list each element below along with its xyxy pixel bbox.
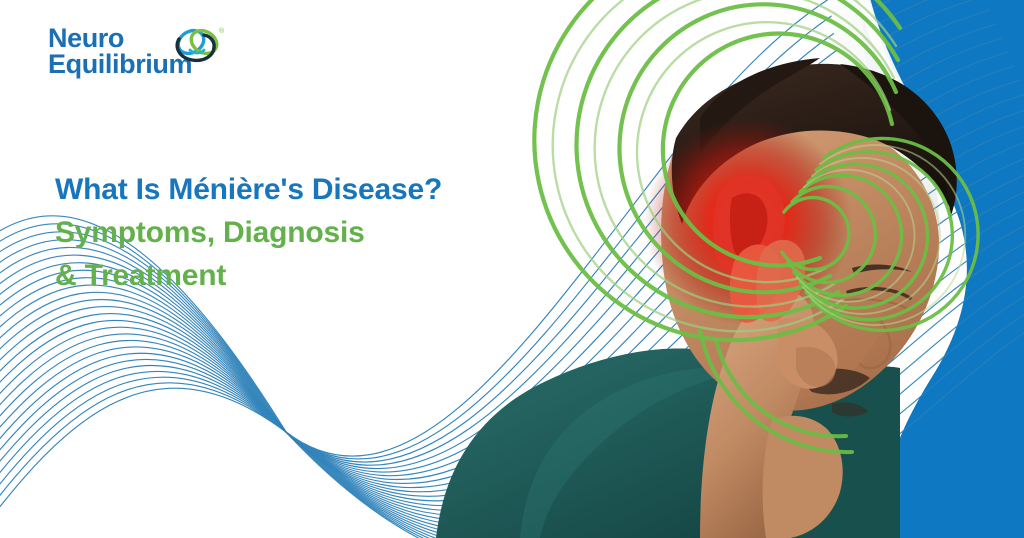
trademark-symbol: ® — [219, 27, 225, 35]
headline-line-2: Symptoms, Diagnosis — [55, 211, 442, 254]
brand-logo[interactable]: Neuro Equilibrium ® — [48, 26, 238, 90]
page-title: What Is Ménière's Disease? Symptoms, Dia… — [55, 168, 442, 298]
headline-line-3: & Treatment — [55, 254, 442, 297]
intersecting-ovals-logo-icon: ® — [166, 24, 228, 70]
meniere-disease-banner: Neuro Equilibrium ® What Is Ménière's Di… — [0, 0, 1024, 538]
headline-line-1: What Is Ménière's Disease? — [55, 168, 442, 211]
